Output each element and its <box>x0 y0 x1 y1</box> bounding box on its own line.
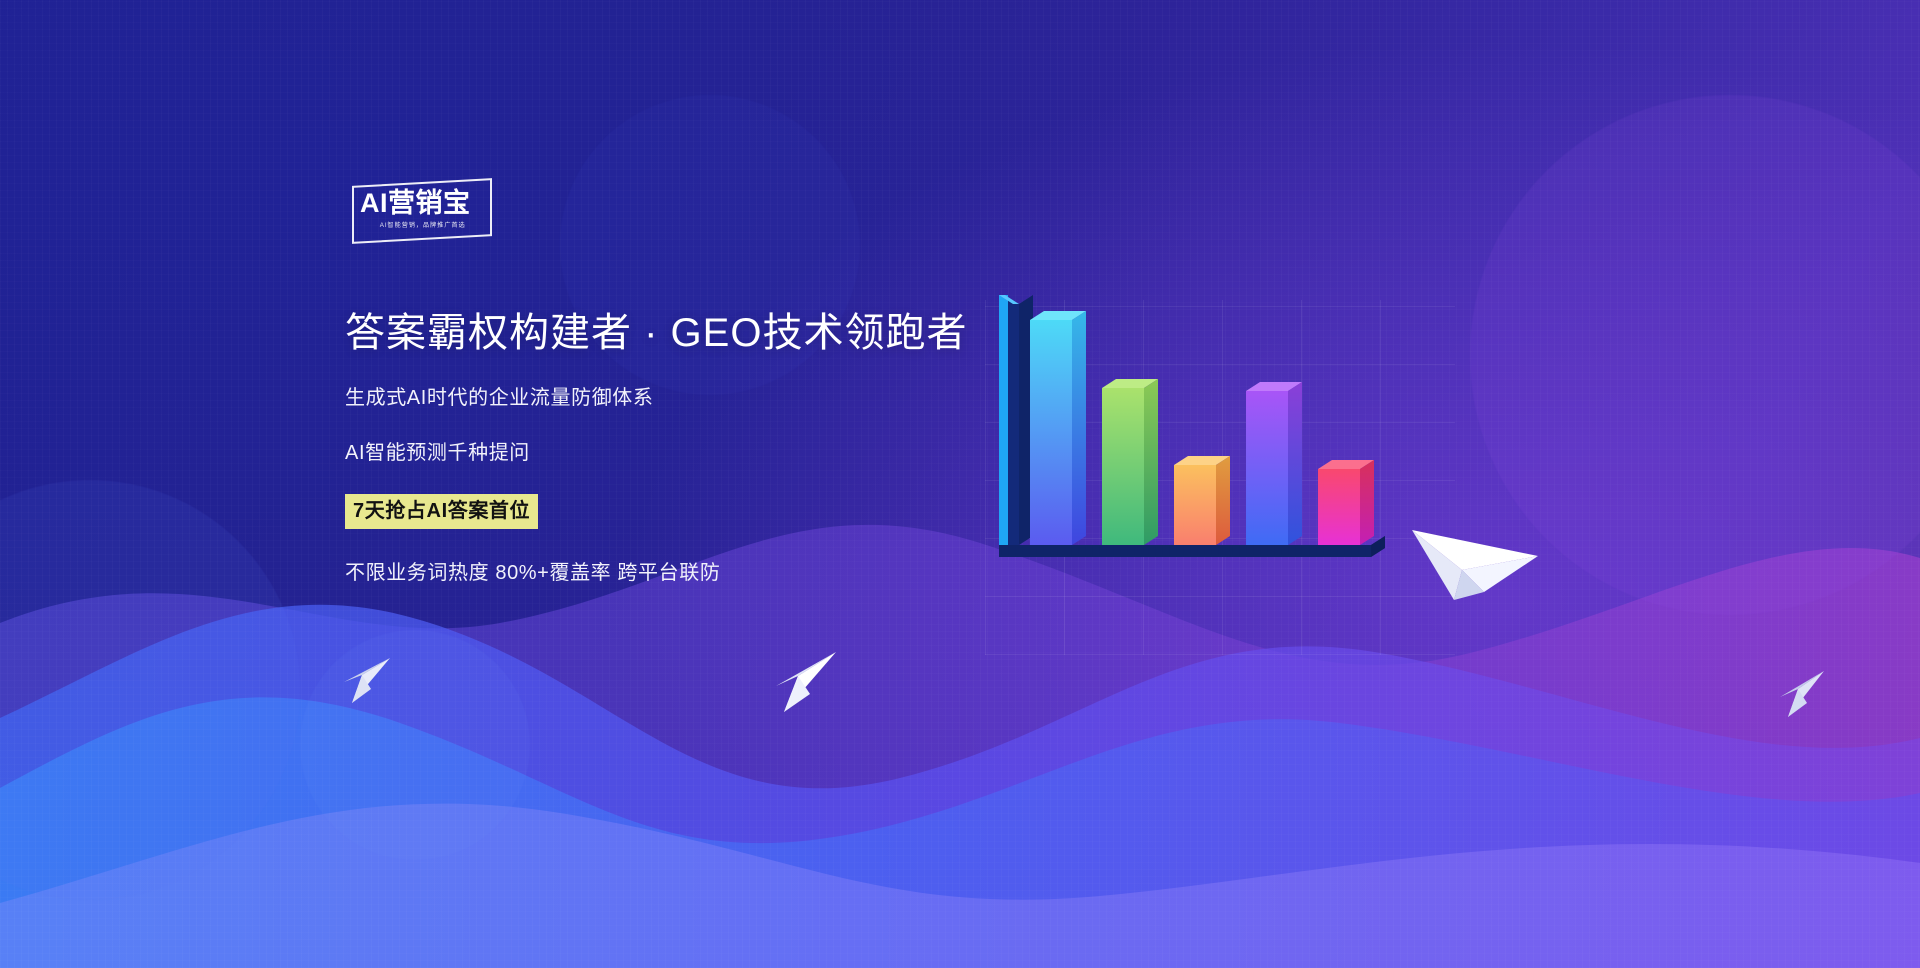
chart-y-axis <box>999 295 1033 545</box>
chart-bar-3 <box>1174 456 1230 545</box>
chart-bar-1 <box>1030 311 1086 545</box>
subtitle-line-1: 生成式AI时代的企业流量防御体系 <box>345 384 985 412</box>
background-blob <box>300 630 530 860</box>
chart-bar-5 <box>1318 460 1374 545</box>
logo-wordmark: AI营销宝 <box>360 188 486 218</box>
highlight-row: 7天抢占AI答案首位 <box>345 494 985 529</box>
paper-plane-icon <box>340 655 395 710</box>
subtitle-line-3: 不限业务词热度 80%+覆盖率 跨平台联防 <box>345 559 985 587</box>
page-title: 答案霸权构建者 · GEO技术领跑者 <box>345 305 985 361</box>
logo-tagline: AI智能营销，品牌推广首选 <box>380 221 466 230</box>
bar-chart-illustration <box>975 295 1475 675</box>
hero-banner: AI营销宝 AI智能营销，品牌推广首选 答案霸权构建者 · GEO技术领跑者 生… <box>0 0 1920 968</box>
chart-bar-4 <box>1246 382 1302 545</box>
paper-plane-icon <box>1775 668 1830 723</box>
highlight-badge: 7天抢占AI答案首位 <box>345 494 538 529</box>
brand-logo[interactable]: AI营销宝 AI智能营销，品牌推广首选 <box>352 182 492 240</box>
paper-plane-icon <box>770 650 840 720</box>
chart-bar-2 <box>1102 379 1158 545</box>
subtitle-line-2: AI智能预测千种提问 <box>345 439 985 467</box>
paper-plane-icon <box>1410 512 1540 602</box>
hero-copy: 答案霸权构建者 · GEO技术领跑者 生成式AI时代的企业流量防御体系 AI智能… <box>345 305 985 587</box>
